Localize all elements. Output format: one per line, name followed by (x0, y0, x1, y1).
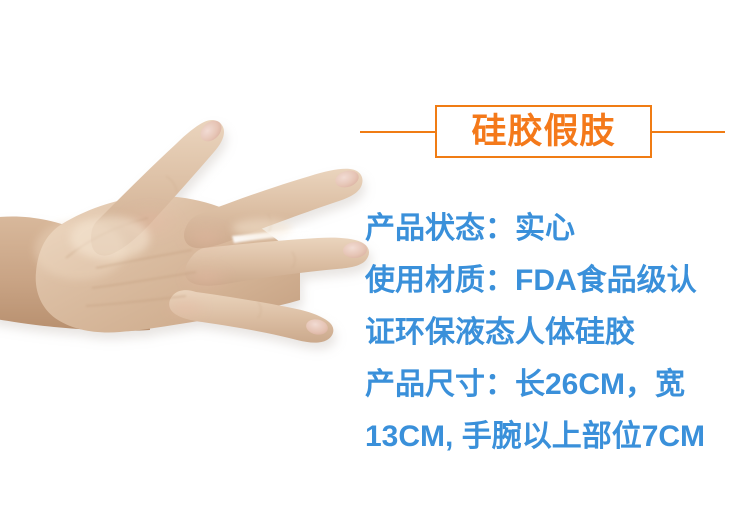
title-rule-left (360, 131, 435, 133)
title-rule-right (652, 131, 725, 133)
spec-line-material-1: 使用材质：FDA食品级认 (365, 255, 750, 307)
spec-line-size-1: 产品尺寸：长26CM，宽 (365, 359, 750, 411)
product-photo (0, 0, 380, 520)
page-title: 硅胶假肢 (471, 114, 615, 149)
spec-list: 产品状态：实心 使用材质：FDA食品级认 证环保液态人体硅胶 产品尺寸：长26C… (365, 203, 750, 463)
product-info-panel: 硅胶假肢 产品状态：实心 使用材质：FDA食品级认 证环保液态人体硅胶 产品尺寸… (355, 0, 750, 520)
prosthetic-hand-illustration (0, 0, 380, 520)
spec-line-material-2: 证环保液态人体硅胶 (365, 307, 750, 359)
spec-line-state: 产品状态：实心 (365, 203, 750, 255)
title-band: 硅胶假肢 (355, 100, 750, 164)
spec-line-size-2: 13CM, 手腕以上部位7CM (365, 411, 750, 463)
product-banner: 硅胶假肢 产品状态：实心 使用材质：FDA食品级认 证环保液态人体硅胶 产品尺寸… (0, 0, 750, 520)
title-box: 硅胶假肢 (435, 105, 652, 158)
